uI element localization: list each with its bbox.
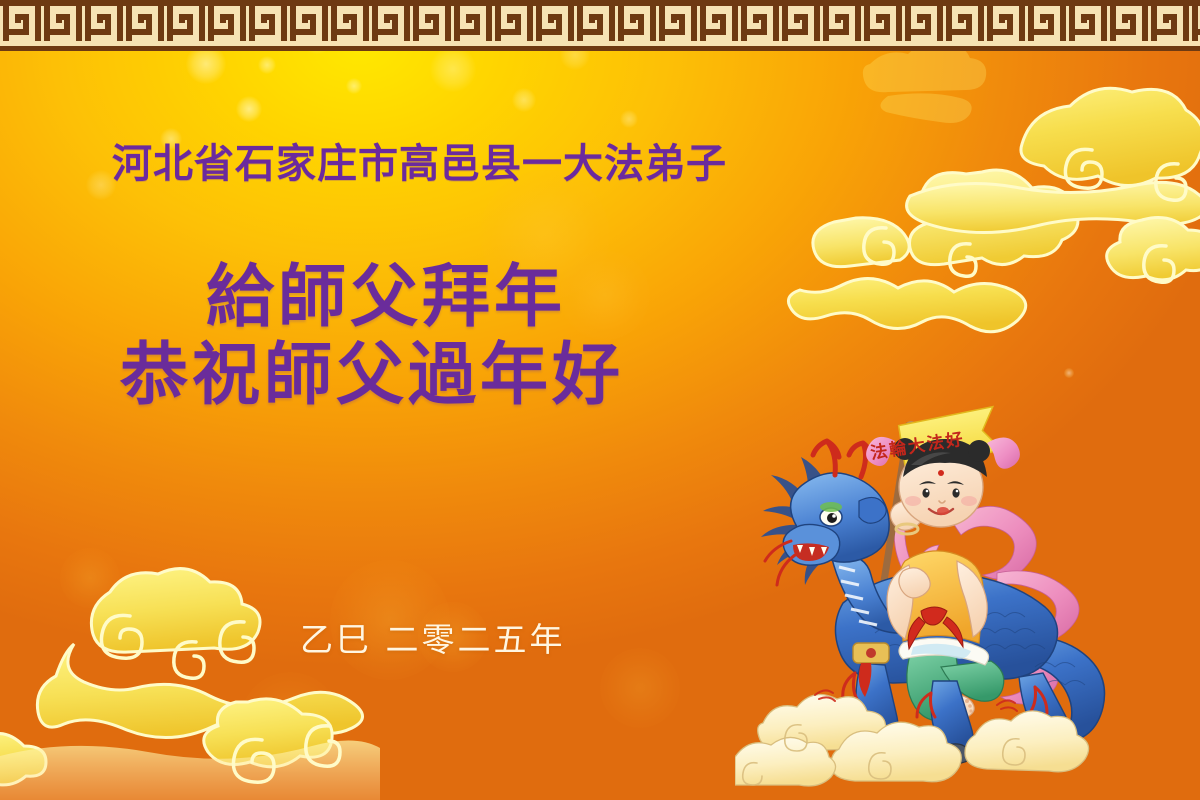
- meander-unit: [369, 0, 410, 41]
- meander-unit: [943, 0, 984, 41]
- meander-unit: [492, 0, 533, 41]
- greeting-line-1: 給師父拜年: [206, 262, 624, 334]
- meander-unit: [1107, 0, 1148, 41]
- greeting-card: 河北省石家庄市高邑县一大法弟子 給師父拜年 恭祝師父過年好 乙巳 二零二五年: [0, 0, 1200, 800]
- decorative-meander-border: [0, 0, 1200, 51]
- auspicious-cloud-bottom-left: [0, 560, 380, 800]
- meander-unit: [533, 0, 574, 41]
- meander-unit: [697, 0, 738, 41]
- meander-unit: [738, 0, 779, 41]
- greeting-block: 給師父拜年 恭祝師父過年好: [120, 262, 624, 412]
- meander-unit: [861, 0, 902, 41]
- meander-unit: [779, 0, 820, 41]
- meander-unit: [902, 0, 943, 41]
- meander-unit: [1025, 0, 1066, 41]
- meander-unit: [574, 0, 615, 41]
- auspicious-cloud-top-right: [770, 46, 1200, 376]
- meander-unit: [328, 0, 369, 41]
- page-title: 河北省石家庄市高邑县一大法弟子: [112, 131, 727, 189]
- meander-unit: [1148, 0, 1189, 41]
- meander-unit: [984, 0, 1025, 41]
- meander-unit: [123, 0, 164, 41]
- meander-unit: [246, 0, 287, 41]
- meander-unit: [615, 0, 656, 41]
- meander-unit: [1189, 0, 1200, 41]
- meander-unit: [0, 0, 41, 41]
- meander-unit: [41, 0, 82, 41]
- greeting-line-2: 恭祝師父過年好: [120, 340, 624, 412]
- meander-unit: [287, 0, 328, 41]
- meander-unit: [656, 0, 697, 41]
- meander-unit: [451, 0, 492, 41]
- meander-unit: [205, 0, 246, 41]
- meander-unit: [1066, 0, 1107, 41]
- meander-unit: [410, 0, 451, 41]
- meander-unit: [82, 0, 123, 41]
- date-text: 乙巳 二零二五年: [300, 613, 566, 661]
- child-riding-dragon-illustration: [735, 405, 1135, 800]
- meander-unit: [820, 0, 861, 41]
- meander-unit: [164, 0, 205, 41]
